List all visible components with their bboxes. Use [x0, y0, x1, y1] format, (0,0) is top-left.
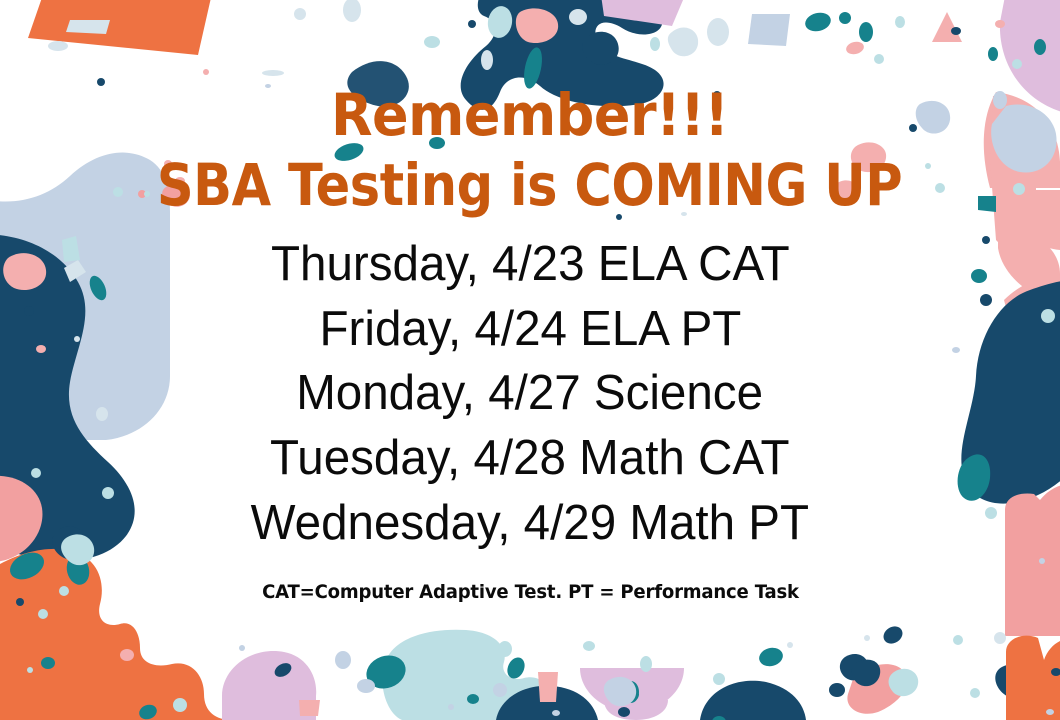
schedule-item: Wednesday, 4/29 Math PT — [251, 491, 809, 556]
headline-secondary: SBA Testing is COMING UP — [157, 156, 902, 214]
schedule-item: Friday, 4/24 ELA PT — [319, 297, 741, 362]
poster-content: Remember!!! SBA Testing is COMING UP Thu… — [0, 0, 1060, 720]
testing-schedule-list: Thursday, 4/23 ELA CAT Friday, 4/24 ELA … — [242, 232, 818, 555]
schedule-item: Thursday, 4/23 ELA CAT — [271, 232, 790, 297]
legend-footnote: CAT=Computer Adaptive Test. PT = Perform… — [262, 581, 799, 603]
announcement-poster: Remember!!! SBA Testing is COMING UP Thu… — [0, 0, 1060, 720]
headline-primary: Remember!!! — [331, 86, 729, 144]
schedule-item: Monday, 4/27 Science — [297, 361, 764, 426]
schedule-item: Tuesday, 4/28 Math CAT — [270, 426, 790, 491]
